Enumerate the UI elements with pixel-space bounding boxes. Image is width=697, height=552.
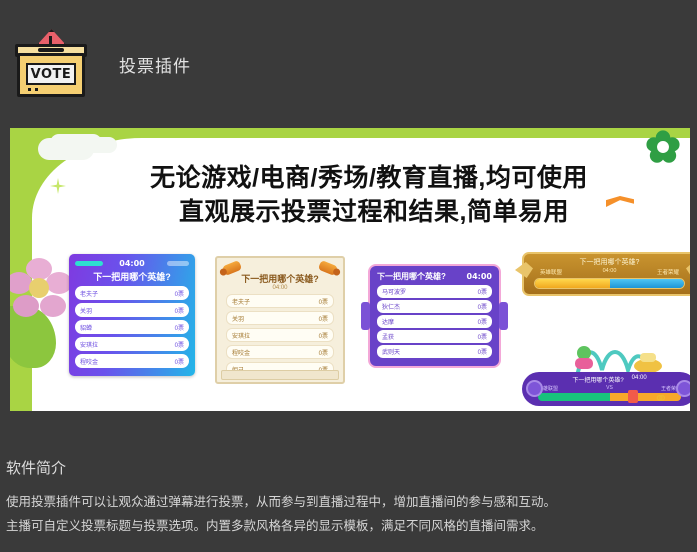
- list-item[interactable]: 关羽 0票: [226, 311, 334, 325]
- scroll-footer-bar: [221, 370, 339, 380]
- goldbar-time: 04:00: [603, 268, 617, 276]
- option-votes: 0票: [175, 306, 184, 315]
- card2-timer: 04:00: [226, 285, 334, 291]
- yellow-decoration-icon: ⚭: [654, 390, 668, 407]
- app-header: VOTE 投票插件: [0, 0, 697, 128]
- list-item[interactable]: 貂蝉 0票: [75, 320, 189, 334]
- option-label: 老夫子: [80, 289, 98, 298]
- vote-template-scroll-card[interactable]: 下一把用哪个英雄? 04:00 老夫子 0票 关羽 0票 安琪拉 0票 程咬金 …: [215, 256, 345, 384]
- goldbar-track: [534, 278, 685, 289]
- purplebar-time: 04:00: [632, 375, 647, 384]
- list-item[interactable]: 孟获 0票: [377, 330, 492, 343]
- option-label: 安琪拉: [80, 340, 98, 349]
- vote-template-gold-vsbar[interactable]: 下一把用哪个英雄? 英雄联盟 04:00 王者荣耀: [522, 252, 690, 296]
- goldbar-left-label: 英雄联盟: [540, 268, 562, 276]
- card3-ear-right: [499, 302, 508, 330]
- option-label: 狄仁杰: [382, 302, 400, 311]
- list-item[interactable]: 马可波罗 0票: [377, 285, 492, 298]
- option-votes: 0票: [478, 317, 487, 326]
- goldbar-title: 下一把用哪个英雄?: [534, 257, 685, 267]
- ballot-dot-right: [35, 88, 38, 91]
- option-votes: 0票: [175, 340, 184, 349]
- option-votes: 0票: [478, 287, 487, 296]
- card1-topbar: 04:00: [75, 258, 189, 269]
- card1-progress-left: [75, 261, 103, 266]
- option-votes: 0票: [319, 331, 328, 340]
- green-flower-icon: [646, 130, 680, 164]
- list-item[interactable]: 老夫子 0票: [226, 294, 334, 308]
- card1-timer: 04:00: [119, 259, 144, 268]
- page-title: 投票插件: [119, 52, 191, 77]
- card3-timer: 04:00: [467, 272, 492, 281]
- option-votes: 0票: [319, 314, 328, 323]
- description-paragraph-2: 主播可自定义投票标题与投票选项。内置多款风格各异的显示模板，满足不同风格的直播间…: [6, 515, 687, 539]
- card1-title: 下一把用哪个英雄?: [75, 270, 189, 283]
- goldbar-names: 英雄联盟 04:00 王者荣耀: [534, 268, 685, 276]
- option-votes: 0票: [175, 323, 184, 332]
- option-votes: 0票: [478, 332, 487, 341]
- purplebar-right-circle-icon: [676, 380, 690, 397]
- option-label: 马可波罗: [382, 287, 406, 296]
- option-label: 貂蝉: [80, 323, 92, 332]
- ballot-dot-left: [28, 88, 31, 91]
- card3-title: 下一把用哪个英雄?: [377, 271, 446, 282]
- option-label: 达摩: [382, 317, 394, 326]
- option-votes: 0票: [175, 289, 184, 298]
- list-item[interactable]: 关羽 0票: [75, 303, 189, 317]
- option-label: 程咬金: [232, 348, 250, 357]
- option-votes: 0票: [478, 347, 487, 356]
- option-label: 武则天: [382, 347, 400, 356]
- option-votes: 0票: [319, 348, 328, 357]
- list-item[interactable]: 达摩 0票: [377, 315, 492, 328]
- cloud-icon: [38, 138, 94, 160]
- vote-plate: VOTE: [26, 63, 76, 85]
- headline-line-1: 无论游戏/电商/秀场/教育直播,均可使用: [48, 162, 690, 196]
- card1-progress-right: [167, 261, 189, 266]
- card2-title: 下一把用哪个英雄?: [226, 272, 334, 285]
- option-votes: 0票: [478, 302, 487, 311]
- option-label: 孟获: [382, 332, 394, 341]
- list-item[interactable]: 安琪拉 0票: [75, 337, 189, 351]
- ballot-slot: [38, 48, 64, 52]
- vote-template-gradient-card[interactable]: 04:00 下一把用哪个英雄? 老夫子 0票 关羽 0票 貂蝉 0票 安琪拉 0…: [69, 254, 195, 376]
- list-item[interactable]: 武则天 0票: [377, 345, 492, 358]
- banner-headline: 无论游戏/电商/秀场/教育直播,均可使用 直观展示投票过程和结果,简单易用: [10, 162, 690, 230]
- purplebar-left-fill: [538, 393, 610, 401]
- goldbar-right-label: 王者荣耀: [657, 268, 679, 276]
- option-label: 关羽: [80, 306, 92, 315]
- option-label: 安琪拉: [232, 331, 250, 340]
- doodle-squiggle-icon: [570, 342, 665, 374]
- card3-header: 下一把用哪个英雄? 04:00: [377, 271, 492, 282]
- option-votes: 0票: [319, 297, 328, 306]
- headline-line-2: 直观展示投票过程和结果,简单易用: [48, 196, 690, 230]
- ballot-paper-mark: [49, 36, 52, 45]
- description-paragraph-1: 使用投票插件可以让观众通过弹幕进行投票，从而参与到直播过程中，增加直播间的参与感…: [6, 491, 687, 515]
- template-showcase: 04:00 下一把用哪个英雄? 老夫子 0票 关羽 0票 貂蝉 0票 安琪拉 0…: [10, 250, 690, 411]
- goldbar-right-fill: [610, 279, 685, 288]
- vote-template-outline-card[interactable]: 下一把用哪个英雄? 04:00 马可波罗 0票 狄仁杰 0票 达摩 0票 孟获 …: [368, 264, 501, 368]
- purplebar-vs-label: VS: [606, 385, 613, 392]
- list-item[interactable]: 安琪拉 0票: [226, 328, 334, 342]
- promo-banner: 无论游戏/电商/秀场/教育直播,均可使用 直观展示投票过程和结果,简单易用 04…: [10, 128, 690, 411]
- purplebar-title: 下一把用哪个英雄?: [572, 375, 623, 384]
- software-description: 软件简介 使用投票插件可以让观众通过弹幕进行投票，从而参与到直播过程中，增加直播…: [0, 411, 697, 539]
- goldbar-left-fill: [535, 279, 610, 288]
- description-heading: 软件简介: [6, 457, 687, 478]
- option-label: 老夫子: [232, 297, 250, 306]
- purplebar-header: 下一把用哪个英雄? 04:00: [538, 375, 681, 384]
- card3-ear-left: [361, 302, 370, 330]
- vote-plate-label: VOTE: [31, 67, 72, 82]
- list-item[interactable]: 老夫子 0票: [75, 286, 189, 300]
- list-item[interactable]: 程咬金 0票: [75, 354, 189, 368]
- purplebar-right-fill: [610, 393, 682, 401]
- list-item[interactable]: 程咬金 0票: [226, 345, 334, 359]
- option-label: 程咬金: [80, 357, 98, 366]
- purplebar-left-circle-icon: [526, 380, 543, 397]
- vote-ballot-box-icon: VOTE: [14, 27, 88, 101]
- red-decoration-icon: [628, 390, 638, 403]
- option-label: 关羽: [232, 314, 244, 323]
- gold-wing-left-icon: [515, 262, 533, 278]
- list-item[interactable]: 狄仁杰 0票: [377, 300, 492, 313]
- gold-wing-right-icon: [686, 262, 690, 278]
- option-votes: 0票: [175, 357, 184, 366]
